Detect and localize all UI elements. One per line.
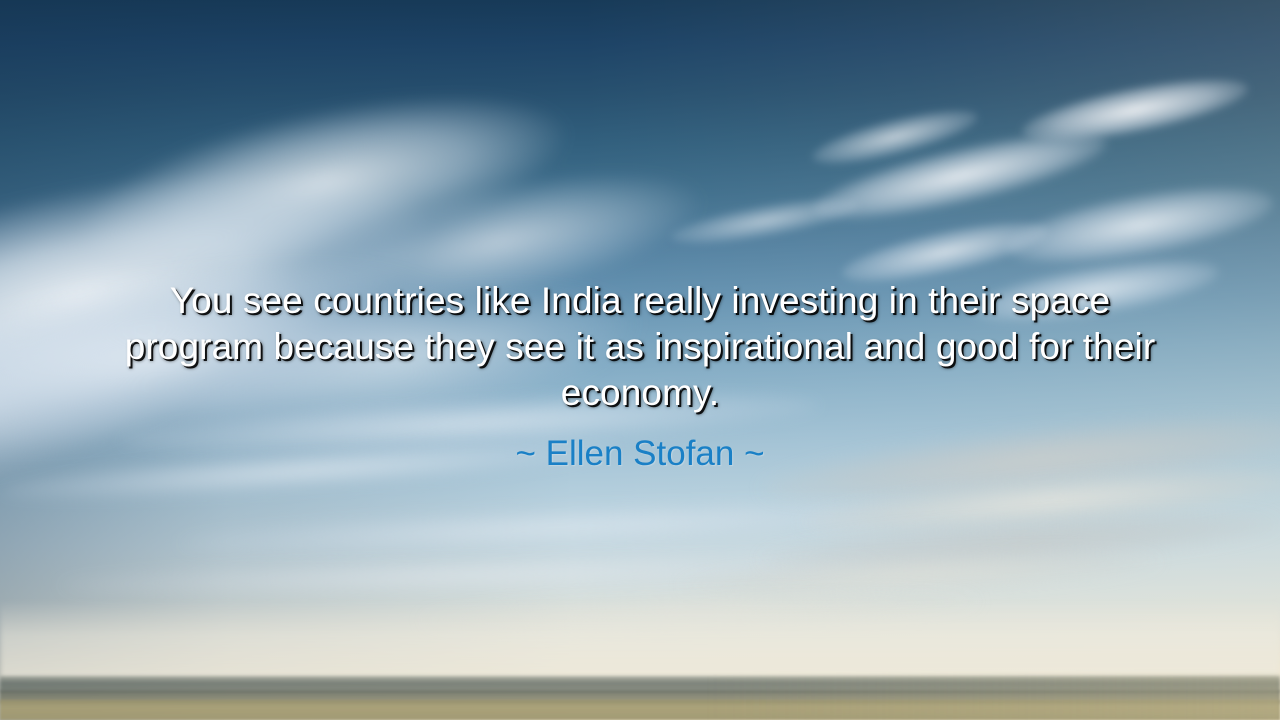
ground-warm-tint-right [704,676,1280,720]
quote-text: You see countries like India really inve… [110,278,1170,416]
quote-block: You see countries like India really inve… [0,278,1280,416]
quote-image-canvas: You see countries like India really inve… [0,0,1280,720]
quote-attribution: ~ Ellen Stofan ~ [0,432,1280,476]
